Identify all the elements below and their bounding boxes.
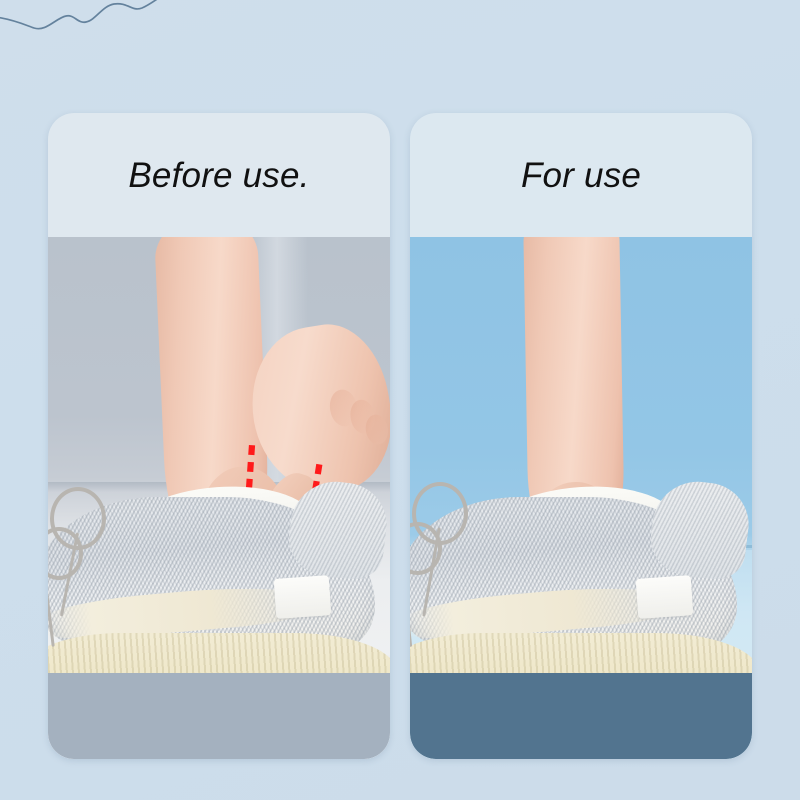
card-after[interactable]: For use [410,113,752,759]
card-after-header: For use [410,113,752,237]
card-after-title: For use [521,158,641,193]
sneaker-side-patch [636,575,694,619]
card-before-title: Before use. [128,158,309,193]
card-before-header: Before use. [48,113,390,237]
card-after-footer [410,673,752,759]
card-before-footer [48,673,390,759]
sneaker-side-patch [274,575,332,619]
comparison-graphic: Before use. [0,0,800,800]
card-before[interactable]: Before use. [48,113,390,759]
shoe-outline-sketch [0,0,270,104]
knuckle-shape [364,413,390,446]
